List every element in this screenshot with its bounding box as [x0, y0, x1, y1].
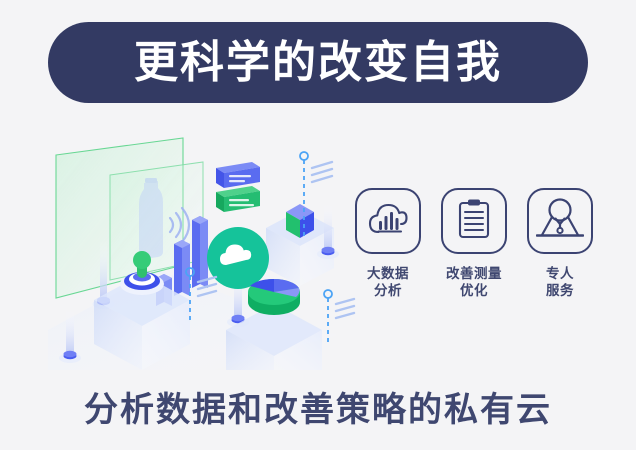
- feature-card-service[interactable]: [527, 188, 593, 254]
- feature-list: 大数据 分析: [352, 188, 596, 328]
- feature-label-line1: 大数据: [367, 265, 409, 282]
- feature-item-service[interactable]: 专人 服务: [524, 188, 596, 328]
- feature-label-line2: 优化: [446, 282, 502, 299]
- support-agent-icon: [536, 197, 584, 246]
- page-caption: 分析数据和改善策略的私有云: [0, 382, 636, 431]
- feature-card-measurement[interactable]: [441, 188, 507, 254]
- feature-item-big-data[interactable]: 大数据 分析: [352, 188, 424, 328]
- label-card-blue: [216, 162, 260, 188]
- pie-chart-3d: [248, 279, 300, 315]
- feature-label-line2: 分析: [367, 282, 409, 299]
- feature-label-line1: 改善测量: [446, 265, 502, 282]
- feature-label-line1: 专人: [546, 265, 574, 282]
- feature-label-big-data: 大数据 分析: [367, 265, 409, 299]
- headline-text: 更科学的改变自我: [134, 41, 502, 85]
- cloud-bar-chart-icon: [368, 202, 408, 241]
- label-card-green: [216, 186, 260, 212]
- clipboard-icon: [457, 198, 491, 245]
- tick-marks-top: [312, 162, 332, 182]
- feature-label-measurement: 改善测量 优化: [446, 265, 502, 299]
- feature-label-service: 专人 服务: [546, 265, 574, 299]
- feature-label-line2: 服务: [546, 282, 574, 299]
- headline-banner: 更科学的改变自我: [48, 22, 588, 103]
- feature-item-measurement[interactable]: 改善测量 优化: [438, 188, 510, 328]
- feature-card-big-data[interactable]: [355, 188, 421, 254]
- poster-canvas: 更科学的改变自我: [0, 0, 636, 450]
- isometric-illustration: [38, 120, 358, 370]
